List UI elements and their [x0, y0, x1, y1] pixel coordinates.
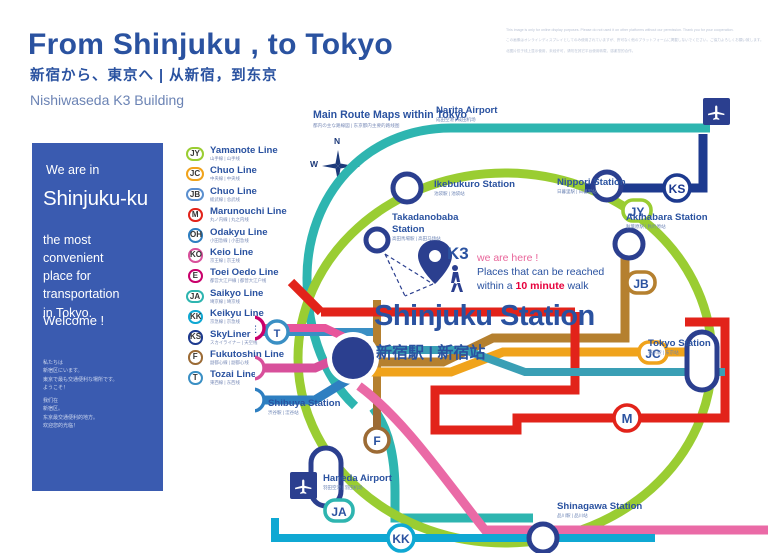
- legend-line-name: Chuo Line: [210, 186, 257, 197]
- shinjuku-station-label-en: Shinjuku Station: [374, 300, 595, 333]
- svg-text:KK: KK: [392, 532, 410, 546]
- we-are-in-panel: We are in Shinjuku-ku the most convenien…: [32, 143, 163, 491]
- haneda-airport-icon: [290, 472, 317, 499]
- legend-line-name: SkyLiner: [210, 329, 251, 340]
- svg-text:JA: JA: [331, 505, 347, 519]
- station-marker-takadanobaba: [366, 229, 388, 251]
- disclaimer-en: This image is only for online display pu…: [506, 27, 764, 33]
- we-are-here-text: we are here !: [477, 252, 538, 264]
- legend-line-name: Keio Line: [210, 247, 253, 258]
- walk-minutes: 10 minute: [516, 280, 565, 292]
- svg-text:E: E: [255, 324, 257, 336]
- svg-text:M: M: [622, 411, 633, 426]
- station-marker-shinjuku: [332, 337, 374, 379]
- k3-label: K3: [447, 244, 469, 264]
- legend-badge-jc: JC: [186, 167, 204, 181]
- station-marker-ikebukuro: [393, 174, 421, 202]
- narita-airport-icon: [703, 98, 730, 125]
- station-label-tokyo: Tokyo Station 東京駅 | 东京站: [648, 338, 711, 356]
- badge-oh: [255, 389, 264, 411]
- svg-text:JB: JB: [633, 277, 649, 291]
- panel-ward-name: Shinjuku-ku: [43, 187, 148, 211]
- station-label-narita: Narita Airport 成田空港 | 成田机场: [436, 105, 497, 123]
- station-label-haneda: Haneda Airport 羽田空港 | 羽田机场: [323, 473, 392, 491]
- station-label-ikebukuro: Ikebukuro Station 池袋駅 | 池袋站: [434, 179, 515, 197]
- building-name: Nishiwaseda K3 Building: [30, 92, 184, 108]
- panel-welcome: Welcome !: [43, 313, 104, 328]
- reachable-places-text: Places that can be reached: [477, 266, 604, 278]
- legend-badge-ja: JA: [186, 290, 204, 304]
- page-title: From Shinjuku , to Tokyo: [28, 28, 393, 62]
- station-marker-akihabara: [615, 230, 643, 258]
- plane-icon: [293, 475, 314, 496]
- legend-badge-oh: OH: [188, 228, 203, 243]
- legend-line-name: Chuo Line: [210, 165, 257, 176]
- legend-badge-e: E: [188, 269, 203, 284]
- station-label-takadanobaba: Takadanobaba Station 高田馬場駅 | 高田马场站: [392, 212, 458, 242]
- legend-line-name-jp: 山手線 | 山手线: [210, 156, 240, 162]
- legend-badge-t: T: [188, 371, 203, 386]
- legend-line-name-jp: 東西線 | 东西线: [210, 380, 240, 386]
- legend-line-name-jp: スカイライナー | 天空线: [210, 340, 257, 346]
- legend-badge-ko: KO: [188, 248, 203, 263]
- legend-line-name-jp: 小田急線 | 小田急线: [210, 238, 249, 244]
- station-label-shinagawa: Shinagawa Station 品川駅 | 品川站: [557, 501, 642, 519]
- panel-body-cn: 我们在 新宿区。 东京最交通便利的地方。 欢迎您的光临！: [43, 397, 98, 430]
- panel-eyebrow: We are in: [46, 163, 99, 177]
- legend-line-name-jp: 副都心線 | 副都心线: [210, 360, 249, 366]
- disclaimer-cn: 北图片仅于线上显示使用，未经许可，请勿在其它平台使用转载，感谢您的合作。: [506, 48, 764, 54]
- walk-time-text: within a 10 minute walk: [477, 280, 588, 292]
- svg-text:T: T: [274, 328, 281, 340]
- legend-line-name-jp: 丸ノ内線 | 丸之内线: [210, 217, 249, 223]
- disclaimer: This image is only for online display pu…: [506, 27, 764, 58]
- svg-text:F: F: [373, 434, 380, 448]
- station-label-akihabara: Akihabara Station 秋葉原駅 | 秋叶原站: [626, 212, 708, 230]
- walker-icon: [451, 265, 463, 292]
- legend-line-name-jp: 総武線 | 总武线: [210, 197, 240, 203]
- plane-icon: [706, 101, 727, 122]
- badge-ko: [255, 357, 264, 379]
- panel-body-jp: 私たちは 新宿区にいます。 東京で最も交通便利な場所です。 ようこそ！: [43, 359, 118, 392]
- panel-body: the most convenient place for transporta…: [43, 231, 119, 322]
- legend-badge-m: M: [188, 208, 203, 223]
- legend-badge-kk: KK: [188, 310, 203, 325]
- disclaimer-jp: この画像はオンラインディスプレイとしてのみ使用されていますが、許可なく他のプラッ…: [506, 37, 764, 43]
- legend-line-name: Tozai Line: [210, 369, 256, 380]
- legend-line-name-jp: 京急線 | 京急线: [210, 319, 240, 325]
- station-marker-shinagawa: [529, 524, 557, 552]
- legend-badge-jb: JB: [186, 188, 204, 202]
- legend-line-name-jp: 埼京線 | 埼京线: [210, 299, 240, 305]
- page-title-subtitle: 新宿から、東京へ | 从新宿，到东京: [30, 64, 278, 85]
- station-label-nippori: Nippori Station 日暮里駅 | 日暮里站: [557, 177, 626, 195]
- legend-badge-f: F: [188, 350, 203, 365]
- legend-badge-jy: JY: [186, 147, 204, 161]
- svg-text:KS: KS: [669, 182, 686, 196]
- legend-line-name-jp: 京王線 | 京王线: [210, 258, 240, 264]
- legend-badge-ks: KS: [188, 330, 203, 345]
- legend-line-name-jp: 中央線 | 中央线: [210, 176, 240, 182]
- shinjuku-station-label-jp: 新宿駅 | 新宿站: [376, 339, 485, 363]
- poster-root: From Shinjuku , to Tokyo 新宿から、東京へ | 从新宿，…: [0, 0, 768, 553]
- station-label-shibuya: Shibuya Station 渋谷駅 | 涩谷站: [268, 398, 341, 416]
